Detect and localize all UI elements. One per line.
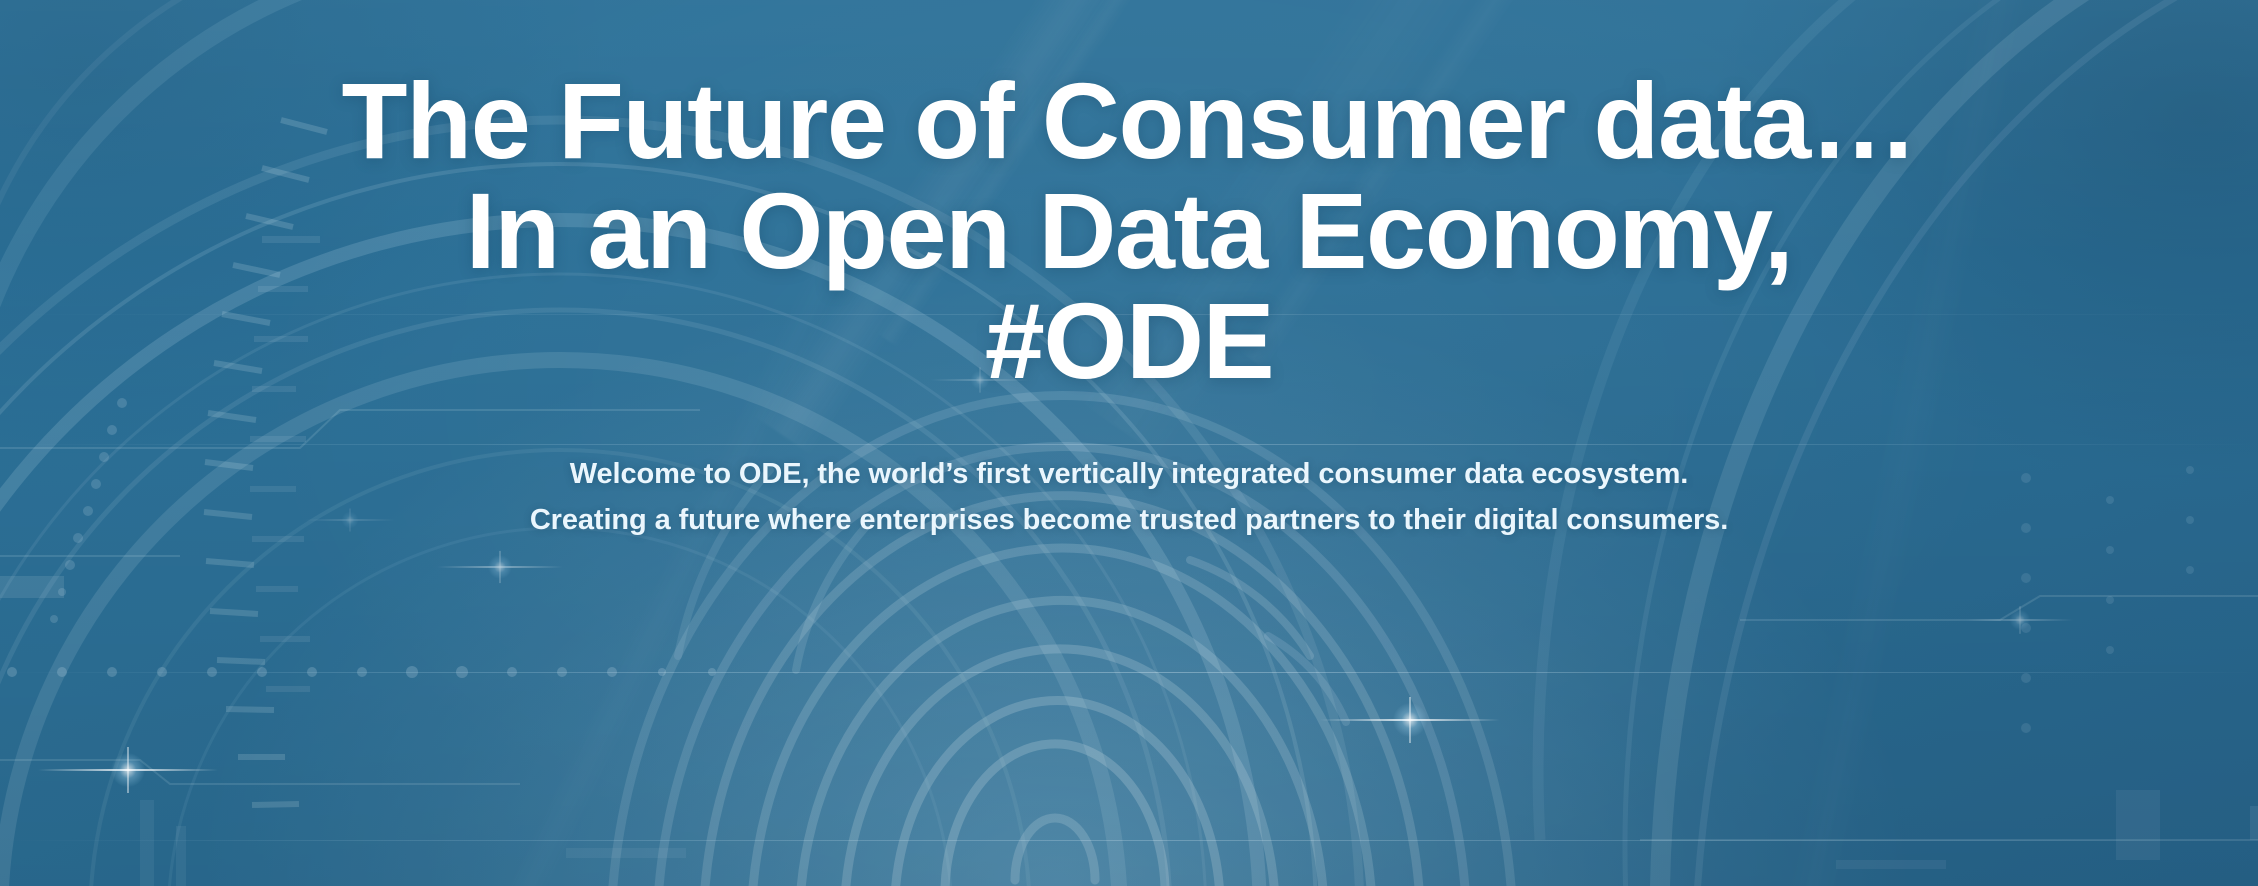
hero-subcopy: Welcome to ODE, the world’s first vertic… — [519, 452, 1739, 544]
hero-content: The Future of Consumer data… In an Open … — [0, 0, 2258, 886]
hero-banner: The Future of Consumer data… In an Open … — [0, 0, 2258, 886]
hero-headline: The Future of Consumer data… In an Open … — [34, 66, 2224, 396]
